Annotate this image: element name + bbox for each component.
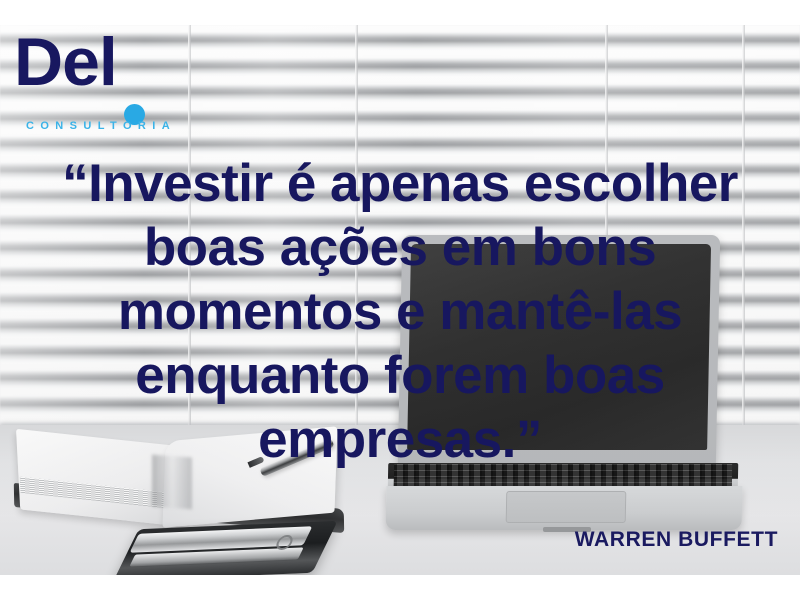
brand-wordmark: Del	[14, 28, 117, 96]
quote-line: momentos e mantê-las	[30, 280, 770, 344]
quote-line: “Investir é apenas escolher	[30, 152, 770, 216]
quote-author: WARREN BUFFETT	[0, 528, 778, 552]
slide-canvas: Del CONSULTORIA “Investir é apenas escol…	[0, 0, 800, 600]
quote-text: “Investir é apenas escolher boas ações e…	[30, 152, 770, 472]
quote-line: empresas.”	[30, 408, 770, 472]
laptop-trackpad	[506, 491, 627, 523]
brand-logo: Del CONSULTORIA	[14, 28, 194, 120]
brand-tagline: CONSULTORIA	[26, 120, 176, 132]
quote-line: enquanto forem boas	[30, 344, 770, 408]
quote-line: boas ações em bons	[30, 216, 770, 280]
